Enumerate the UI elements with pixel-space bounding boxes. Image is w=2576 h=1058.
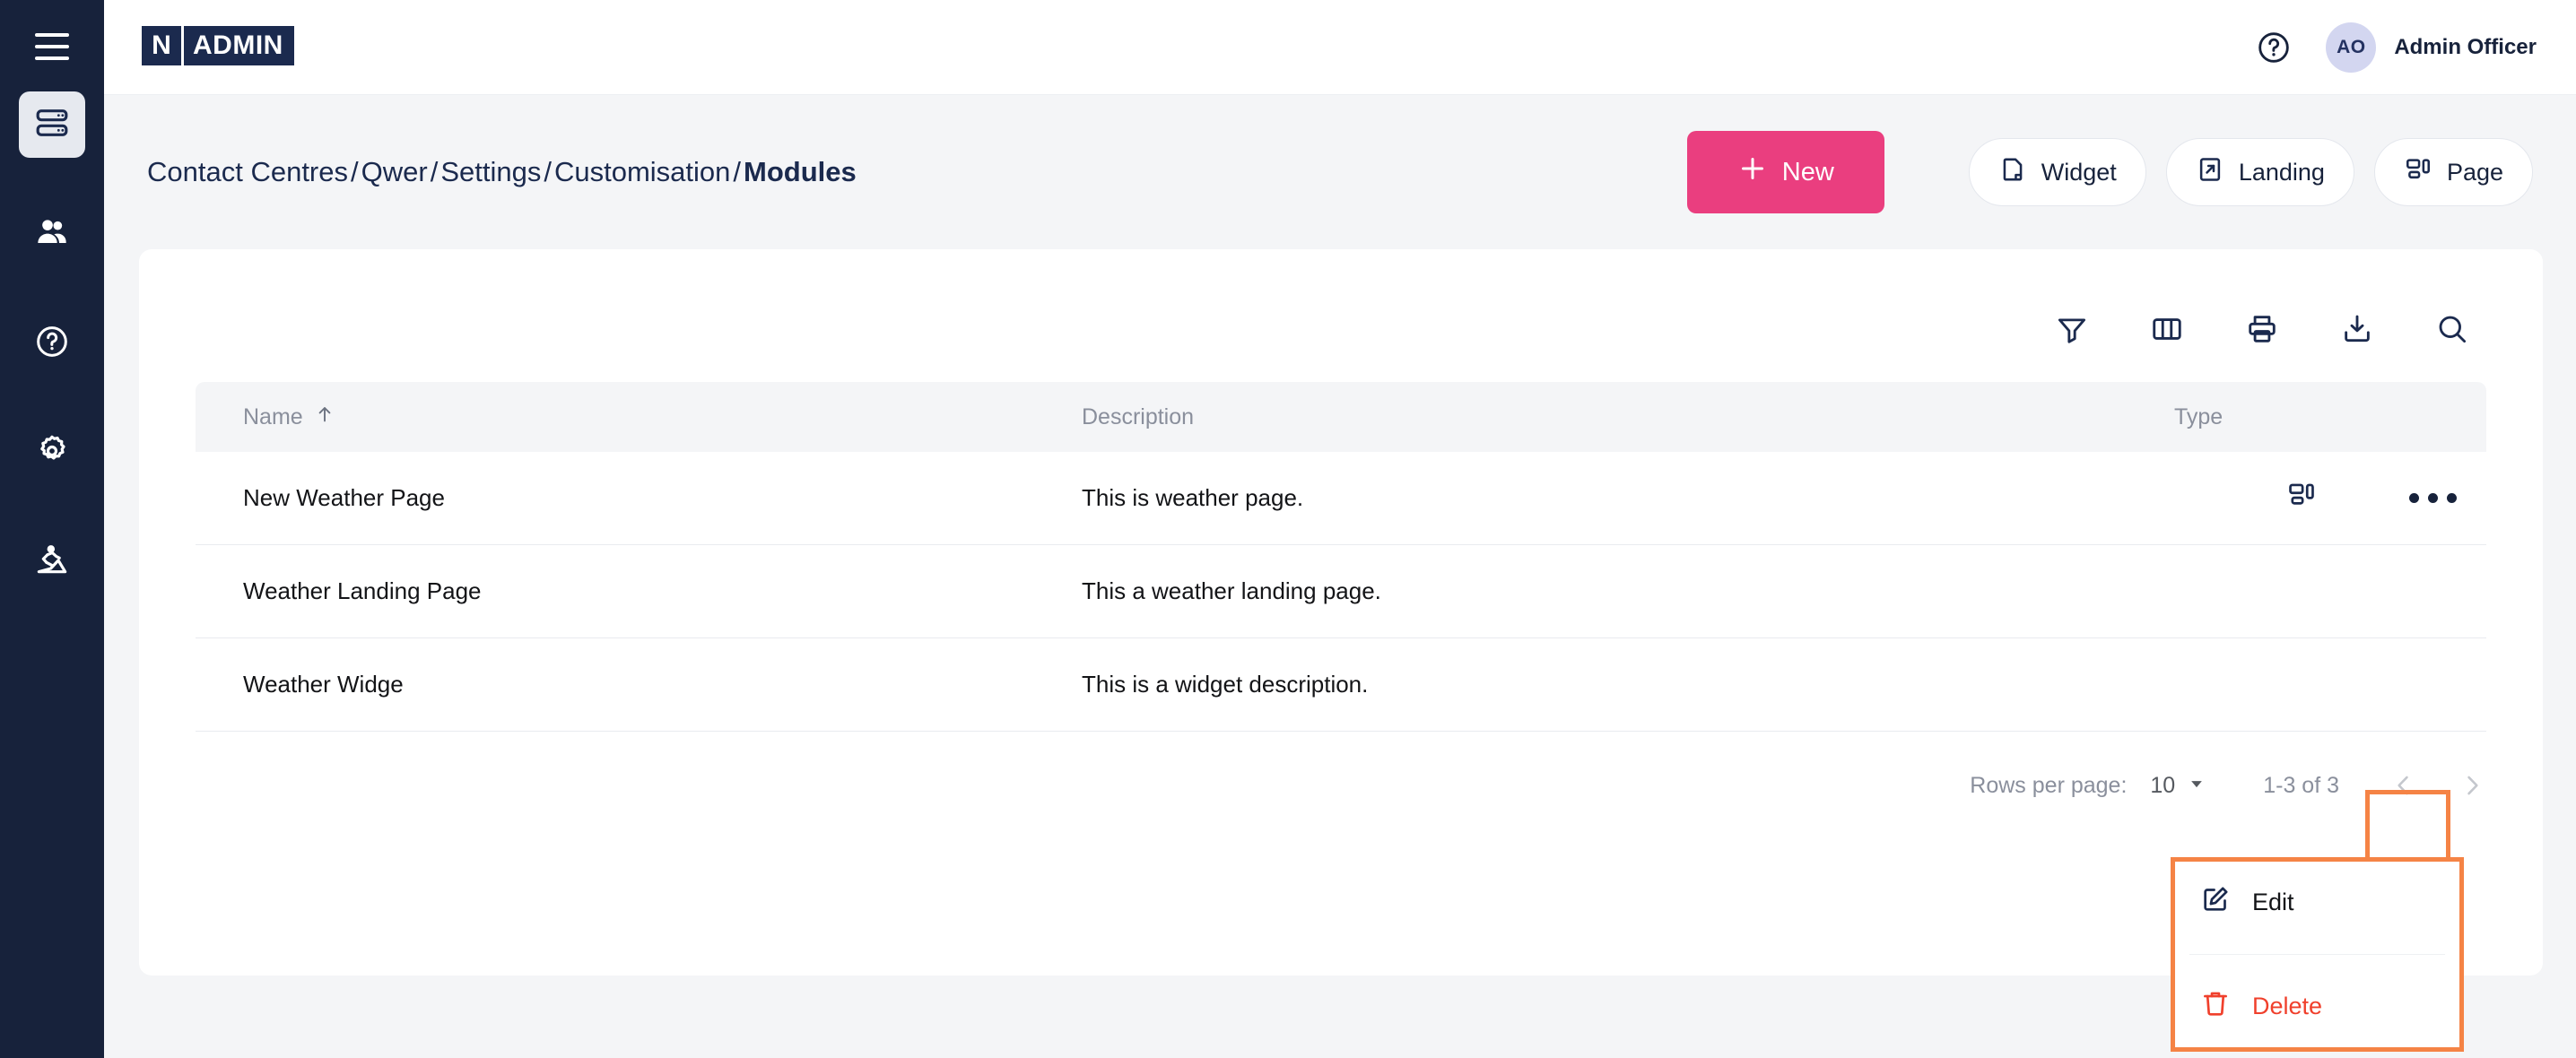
pagination-range: 1-3 of 3 (2263, 773, 2339, 799)
widget-button-label: Widget (2041, 159, 2117, 186)
cell-description: This is a widget description. (1082, 671, 2174, 698)
cell-type (2174, 471, 2486, 526)
gear-icon (34, 433, 70, 473)
caret-down-icon (2188, 773, 2206, 799)
breadcrumb-item-1[interactable]: Qwer (361, 156, 428, 187)
sidebar-item-help[interactable] (19, 310, 85, 377)
cell-description: This a weather landing page. (1082, 577, 2174, 605)
construction-worker-icon (34, 542, 70, 583)
users-icon (34, 214, 70, 255)
cell-name: New Weather Page (196, 484, 1082, 512)
context-menu-item-delete-label: Delete (2252, 993, 2322, 1020)
page-actions: New Widget Landing (1687, 131, 2533, 213)
breadcrumb-sep-1: / (428, 156, 441, 187)
header-actions: AO Admin Officer (2256, 22, 2537, 73)
menu-bar-1 (35, 33, 69, 37)
cell-name: Weather Landing Page (196, 577, 1082, 605)
search-icon[interactable] (2435, 312, 2469, 346)
rows-per-page-label: Rows per page: (1970, 773, 2127, 799)
breadcrumb-current: Modules (744, 156, 857, 187)
widget-document-icon (1998, 155, 2027, 190)
user-menu[interactable]: AO Admin Officer (2326, 22, 2537, 73)
landing-button[interactable]: Landing (2166, 138, 2354, 206)
table-row[interactable]: Weather Widge This is a widget descripti… (196, 638, 2486, 732)
sidebar-item-users[interactable] (19, 201, 85, 267)
column-header-description[interactable]: Description (1082, 404, 2174, 430)
page-button[interactable]: Page (2374, 138, 2533, 206)
breadcrumb: Contact Centres/Qwer/Settings/Customisat… (147, 156, 857, 188)
menu-bar-2 (35, 45, 69, 48)
sidebar-item-settings[interactable] (19, 420, 85, 486)
columns-icon[interactable] (2150, 312, 2184, 346)
context-menu-item-edit[interactable]: Edit (2171, 871, 2464, 935)
page-layout-icon (2404, 155, 2432, 190)
filter-icon[interactable] (2055, 312, 2089, 346)
user-name: Admin Officer (2394, 35, 2537, 60)
menu-icon[interactable] (23, 23, 81, 70)
breadcrumb-sep-3: / (730, 156, 744, 187)
breadcrumb-item-0[interactable]: Contact Centres (147, 156, 348, 187)
sidebar (0, 0, 104, 1058)
page-layout-icon (2286, 480, 2317, 516)
page-button-label: Page (2447, 159, 2503, 186)
app-logo[interactable]: N ADMIN (142, 26, 294, 69)
context-menu-item-edit-label: Edit (2252, 889, 2294, 916)
column-header-type[interactable]: Type (2174, 404, 2486, 430)
chevron-left-icon[interactable] (2389, 771, 2418, 800)
sidebar-item-servers[interactable] (19, 91, 85, 158)
help-circle-icon (34, 324, 70, 364)
dot-3 (2447, 493, 2457, 503)
table-header: Name Description Type (196, 382, 2486, 452)
print-icon[interactable] (2245, 312, 2279, 346)
column-header-name-label: Name (243, 404, 303, 430)
column-header-name[interactable]: Name (196, 403, 1082, 431)
dot-1 (2409, 493, 2419, 503)
row-menu-cell (2390, 471, 2476, 526)
rows-per-page-select[interactable]: 10 (2150, 773, 2206, 799)
new-button-label: New (1782, 158, 1834, 187)
cell-description: This is weather page. (1082, 484, 2174, 512)
widget-button[interactable]: Widget (1969, 138, 2146, 206)
cell-name: Weather Widge (196, 671, 1082, 698)
breadcrumb-item-3[interactable]: Customisation (554, 156, 730, 187)
breadcrumb-sep-2: / (541, 156, 554, 187)
more-horizontal-icon[interactable] (2390, 471, 2476, 526)
context-menu-item-delete[interactable]: Delete (2171, 974, 2464, 1038)
help-circle-icon[interactable] (2256, 30, 2292, 65)
table-row[interactable]: Weather Landing Page This a weather land… (196, 545, 2486, 638)
breadcrumb-item-2[interactable]: Settings (440, 156, 541, 187)
server-icon (34, 105, 70, 145)
logo-mark: N (142, 26, 181, 65)
menu-bar-3 (35, 56, 69, 60)
avatar: AO (2326, 22, 2376, 73)
landing-button-label: Landing (2239, 159, 2325, 186)
new-button[interactable]: New (1687, 131, 1884, 213)
arrow-up-icon (314, 403, 335, 431)
page-bar: Contact Centres/Qwer/Settings/Customisat… (104, 95, 2576, 249)
pagination: Rows per page: 10 1-3 of 3 (196, 732, 2486, 839)
sidebar-item-maintenance[interactable] (19, 529, 85, 595)
table-toolbar (139, 249, 2543, 364)
top-header: N ADMIN AO Admin Officer (104, 0, 2576, 95)
context-menu-divider (2189, 954, 2445, 956)
download-icon[interactable] (2340, 312, 2374, 346)
external-link-icon (2196, 155, 2224, 190)
pencil-edit-icon (2200, 884, 2231, 921)
modules-card: Name Description Type New Weather Page T… (139, 249, 2543, 976)
logo-wordmark: ADMIN (184, 26, 294, 65)
rows-per-page-value: 10 (2150, 773, 2175, 799)
row-context-menu: Edit Delete (2171, 857, 2464, 1052)
plus-icon (1737, 153, 1768, 191)
breadcrumb-sep-0: / (348, 156, 361, 187)
table-row[interactable]: New Weather Page This is weather page. (196, 452, 2486, 545)
trash-icon (2200, 988, 2231, 1025)
chevron-right-icon[interactable] (2458, 771, 2486, 800)
dot-2 (2428, 493, 2438, 503)
